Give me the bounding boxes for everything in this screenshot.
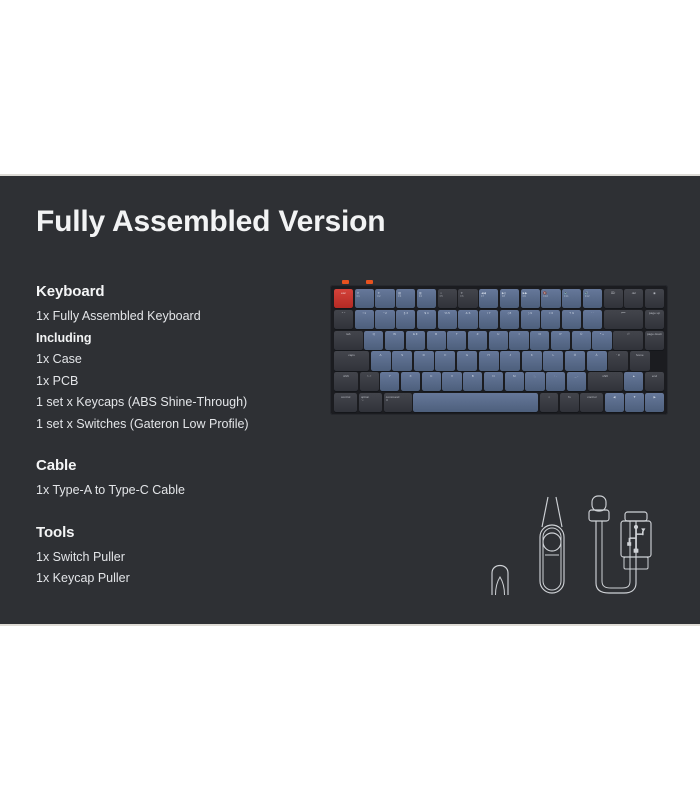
keycap-legend: ☼ xyxy=(548,395,551,399)
keycap-sublegend: F8 xyxy=(502,295,519,299)
keycap: ' # xyxy=(608,351,628,370)
keycap-legend: R xyxy=(435,332,437,336)
keycap: L xyxy=(543,351,563,370)
keycap: option⌥ xyxy=(359,393,382,412)
keycap-legend: I xyxy=(519,332,520,336)
keycap-legend: Y xyxy=(389,374,391,378)
spacer xyxy=(36,516,326,524)
keycap: > < xyxy=(360,372,379,391)
keycap: Ü xyxy=(572,331,591,350)
keycap-legend: tab xyxy=(346,332,350,336)
keycap: Ä xyxy=(587,351,607,370)
keycap-legend: U xyxy=(497,332,499,336)
keycap: ` ´ xyxy=(583,310,602,329)
keycap: control xyxy=(580,393,603,412)
keycap: ; , xyxy=(525,372,544,391)
section-heading: Keyboard xyxy=(36,283,326,300)
spec-section-keyboard: Keyboard 1x Fully Assembled Keyboard Inc… xyxy=(36,283,326,435)
keycap: page down xyxy=(645,331,664,350)
keycap: J xyxy=(500,351,520,370)
keycap: ☀F2 xyxy=(375,289,394,308)
keyboard-row: capsASDFGHJKLÖÄ' #home xyxy=(334,351,664,370)
keycap: A xyxy=(371,351,391,370)
keyboard-chassis: esc☀F1☀F2▨F3▥F4☼F5☀F6◀◀F7▶||F8▶▶F9🔇F10🔉F… xyxy=(330,285,668,415)
led-indicator-icon xyxy=(366,280,373,284)
spec-line: Including xyxy=(36,328,326,350)
keycap-sublegend: F6 xyxy=(460,295,477,299)
keycap-legend: M xyxy=(513,374,516,378)
keycap: F xyxy=(435,351,455,370)
keycap: X xyxy=(401,372,420,391)
keycap: N xyxy=(484,372,503,391)
section-heading: Tools xyxy=(36,524,326,541)
keycap: M xyxy=(505,372,524,391)
keycap-legend: ) 9 xyxy=(528,311,532,315)
keycap-legend: shift xyxy=(602,374,608,378)
keycap: R xyxy=(427,331,446,350)
keyboard-row: ^ °! 1" 2§ 3$ 4% 5& 6/ 7( 8) 9= 0? ß` ´⟵… xyxy=(334,310,664,329)
keycap-legend: C xyxy=(430,374,432,378)
keycap: command⌘ xyxy=(384,393,412,412)
keycap: ▥F4 xyxy=(417,289,436,308)
keycap: home xyxy=(630,351,650,370)
keycap-legend: del xyxy=(632,291,636,295)
keycap-legend: & 6 xyxy=(466,311,471,315)
keycap-legend: B xyxy=(472,374,474,378)
keycap: C xyxy=(422,372,441,391)
keycap-legend: ◀ xyxy=(613,395,615,399)
keycap: esc xyxy=(334,289,353,308)
spec-line: 1x Case xyxy=(36,349,326,371)
keycap: del xyxy=(624,289,643,308)
keycap: ▶▶F9 xyxy=(521,289,540,308)
keycap: / 7 xyxy=(479,310,498,329)
keycap: ☼ xyxy=(540,393,559,412)
keycap-legend: ( 8 xyxy=(508,311,512,315)
keycap-legend: L xyxy=(552,353,554,357)
keycap-legend: W xyxy=(393,332,396,336)
keycap: = 0 xyxy=(541,310,560,329)
keycap-legend: ⟵ xyxy=(621,311,625,315)
keycap: S xyxy=(392,351,412,370)
keycap-legend: J xyxy=(509,353,511,357)
keycap-sublegend: F9 xyxy=(523,295,540,299)
keycap: V xyxy=(442,372,461,391)
keycap-sublegend: ⌥ xyxy=(361,399,382,403)
keycap-legend: O xyxy=(539,332,541,336)
keycap-legend: % 5 xyxy=(445,311,450,315)
keyboard-row: controloption⌥command⌘☼fncontrol◀▼▶ xyxy=(334,393,664,412)
keycap: O xyxy=(530,331,549,350)
keycap-legend: T xyxy=(456,332,458,336)
keycap: ( 8 xyxy=(500,310,519,329)
keycap-legend: K xyxy=(531,353,533,357)
keycap: page up xyxy=(645,310,664,329)
keycap-sublegend: ⌘ xyxy=(386,399,412,403)
keycap: § 3 xyxy=(396,310,415,329)
keycap-legend: Q xyxy=(373,332,375,336)
keycap: caps xyxy=(334,351,369,370)
section-heading: Cable xyxy=(36,457,326,474)
keycap-legend: S xyxy=(401,353,403,357)
keycap-legend: ; , xyxy=(534,374,537,378)
keycap-legend: ^ ° xyxy=(342,311,346,315)
keycap-legend: E € xyxy=(413,332,418,336)
keycap: % 5 xyxy=(438,310,457,329)
keycap-legend: ? ß xyxy=(569,311,573,315)
page-title: Fully Assembled Version xyxy=(36,205,385,239)
keycap-legend: A xyxy=(380,353,382,357)
keycap: ▼ xyxy=(625,393,644,412)
keycap: ▨F3 xyxy=(396,289,415,308)
keycap-sublegend: F7 xyxy=(481,295,498,299)
keycap: G xyxy=(457,351,477,370)
keycap: ☀F1 xyxy=(355,289,374,308)
keycap-legend: = 0 xyxy=(549,311,553,315)
keycap: ▶ xyxy=(645,393,664,412)
spec-section-cable: Cable 1x Type-A to Type-C Cable xyxy=(36,457,326,502)
keycap-legend: F xyxy=(444,353,446,357)
keycap-legend: X xyxy=(410,374,412,378)
keycap: $ 4 xyxy=(417,310,436,329)
keycap-legend: _ - xyxy=(575,374,579,378)
usb-a-to-c-cable-icon xyxy=(589,496,651,593)
keycap: ⏎ xyxy=(613,331,643,350)
keyboard-row: tabQWE €RTZUIOPÜ* +⏎page down xyxy=(334,331,664,350)
spec-line: 1x Type-A to Type-C Cable xyxy=(36,480,326,502)
keycap: W xyxy=(385,331,404,350)
keycap-legend: control xyxy=(587,395,596,399)
keycap: P xyxy=(551,331,570,350)
keycap-legend: ▼ xyxy=(633,395,636,399)
keycap: : . xyxy=(546,372,565,391)
keycap-sublegend: F1 xyxy=(357,295,374,299)
keycap: shift xyxy=(334,372,358,391)
spec-line: 1x PCB xyxy=(36,371,326,393)
keycap: ▶||F8 xyxy=(500,289,519,308)
keycap: I xyxy=(509,331,528,350)
keycap-sublegend: F4 xyxy=(419,295,436,299)
keycap-legend: Z xyxy=(477,332,479,336)
keycap-sublegend: F5 xyxy=(440,295,457,299)
keycap: D xyxy=(414,351,434,370)
keycap: ? ß xyxy=(562,310,581,329)
keycap: T xyxy=(447,331,466,350)
keycap-legend: H xyxy=(487,353,489,357)
keycap-legend: ` ´ xyxy=(591,311,594,315)
keycap: K xyxy=(522,351,542,370)
keycap: ☀F6 xyxy=(458,289,477,308)
keycap: 🔉F11 xyxy=(562,289,581,308)
keyboard-row: esc☀F1☀F2▨F3▥F4☼F5☀F6◀◀F7▶||F8▶▶F9🔇F10🔉F… xyxy=(334,289,664,308)
keycap-legend: ⏎ xyxy=(627,332,630,336)
keycap: ◀ xyxy=(605,393,624,412)
keycap: 🔊F12 xyxy=(583,289,602,308)
keycap-legend: ⌦ xyxy=(611,291,615,295)
keycap: control xyxy=(334,393,357,412)
keycap-legend: D xyxy=(423,353,425,357)
keycap-legend: fn xyxy=(568,395,571,399)
keycap: ⟵ xyxy=(604,310,644,329)
keycap-legend: " 2 xyxy=(383,311,387,315)
keycap-legend: ▶ xyxy=(653,395,655,399)
keycap-legend: ! 1 xyxy=(363,311,366,315)
keycap: ⌦ xyxy=(604,289,623,308)
keycap: ◉ xyxy=(645,289,664,308)
panel-bottom-divider xyxy=(0,624,700,626)
keycap-legend: G xyxy=(466,353,468,357)
spec-line: 1x Switch Puller xyxy=(36,547,326,569)
keycap: tab xyxy=(334,331,363,350)
keycap: 🔇F10 xyxy=(541,289,560,308)
spacer xyxy=(36,449,326,457)
keycap-puller-icon xyxy=(492,566,508,596)
keycap-sublegend: F11 xyxy=(564,295,581,299)
keycap xyxy=(413,393,538,412)
keycap-sublegend: F12 xyxy=(585,295,602,299)
keyboard-row: shift> <YXCVBNM; ,: ._ -shift▲end xyxy=(334,372,664,391)
keycap-legend: end xyxy=(652,374,657,378)
keycap: H xyxy=(479,351,499,370)
keycap-legend: $ 4 xyxy=(424,311,428,315)
switch-puller-icon xyxy=(540,497,564,593)
keycap-legend: Ä xyxy=(595,353,597,357)
keycap: & 6 xyxy=(458,310,477,329)
keycap-legend: Ö xyxy=(574,353,576,357)
keycap-legend: page down xyxy=(647,332,662,336)
keycap: U xyxy=(489,331,508,350)
keycap-legend: shift xyxy=(343,374,349,378)
led-indicator-icon xyxy=(342,280,349,284)
keycap: ^ ° xyxy=(334,310,353,329)
keycap-legend: esc xyxy=(341,291,346,295)
keycap-legend: / 7 xyxy=(487,311,490,315)
keycap-sublegend: F2 xyxy=(377,295,394,299)
keycap: ◀◀F7 xyxy=(479,289,498,308)
keycap: ) 9 xyxy=(521,310,540,329)
keycap: E € xyxy=(406,331,425,350)
keycap-legend: Ü xyxy=(580,332,582,336)
spec-line: 1 set x Switches (Gateron Low Profile) xyxy=(36,414,326,436)
spec-line: 1x Keycap Puller xyxy=(36,568,326,590)
keycap-sublegend: F10 xyxy=(543,295,560,299)
keycap: * + xyxy=(592,331,611,350)
keycap: fn xyxy=(560,393,579,412)
keycap: Q xyxy=(364,331,383,350)
keycap-legend: page up xyxy=(649,311,660,315)
spec-line: 1 set x Keycaps (ABS Shine-Through) xyxy=(36,392,326,414)
keycap: ☼F5 xyxy=(438,289,457,308)
keycap: shift xyxy=(588,372,623,391)
keycap-legend: : . xyxy=(554,374,557,378)
keyboard-image: esc☀F1☀F2▨F3▥F4☼F5☀F6◀◀F7▶||F8▶▶F9🔇F10🔉F… xyxy=(330,280,670,415)
keycap-legend: ◉ xyxy=(653,291,656,295)
accessory-illustrations xyxy=(470,495,675,600)
spec-line: 1x Fully Assembled Keyboard xyxy=(36,306,326,328)
keycap: Z xyxy=(468,331,487,350)
keycap-legend: ' # xyxy=(617,353,620,357)
keycap: ▲ xyxy=(624,372,643,391)
keycap: B xyxy=(463,372,482,391)
keycap: " 2 xyxy=(375,310,394,329)
product-spec-slide: Fully Assembled Version Keyboard 1x Full… xyxy=(0,0,700,800)
keycap-legend: V xyxy=(451,374,453,378)
keycap-legend: * + xyxy=(600,332,604,336)
keycap-legend: ▲ xyxy=(632,374,635,378)
keycap: Ö xyxy=(565,351,585,370)
keycap-legend: P xyxy=(559,332,561,336)
keycap-legend: § 3 xyxy=(404,311,408,315)
keycap: end xyxy=(645,372,664,391)
spec-section-tools: Tools 1x Switch Puller 1x Keycap Puller xyxy=(36,524,326,590)
keycap-legend: home xyxy=(636,353,644,357)
keycap: ! 1 xyxy=(355,310,374,329)
keycap: _ - xyxy=(567,372,586,391)
keycap-legend: caps xyxy=(348,353,355,357)
keycap-legend: N xyxy=(492,374,494,378)
spec-list: Keyboard 1x Fully Assembled Keyboard Inc… xyxy=(36,283,326,590)
keycap-legend: control xyxy=(341,395,350,399)
keycap-sublegend: F3 xyxy=(398,295,415,299)
keycap-legend: > < xyxy=(367,374,371,378)
keycap: Y xyxy=(380,372,399,391)
